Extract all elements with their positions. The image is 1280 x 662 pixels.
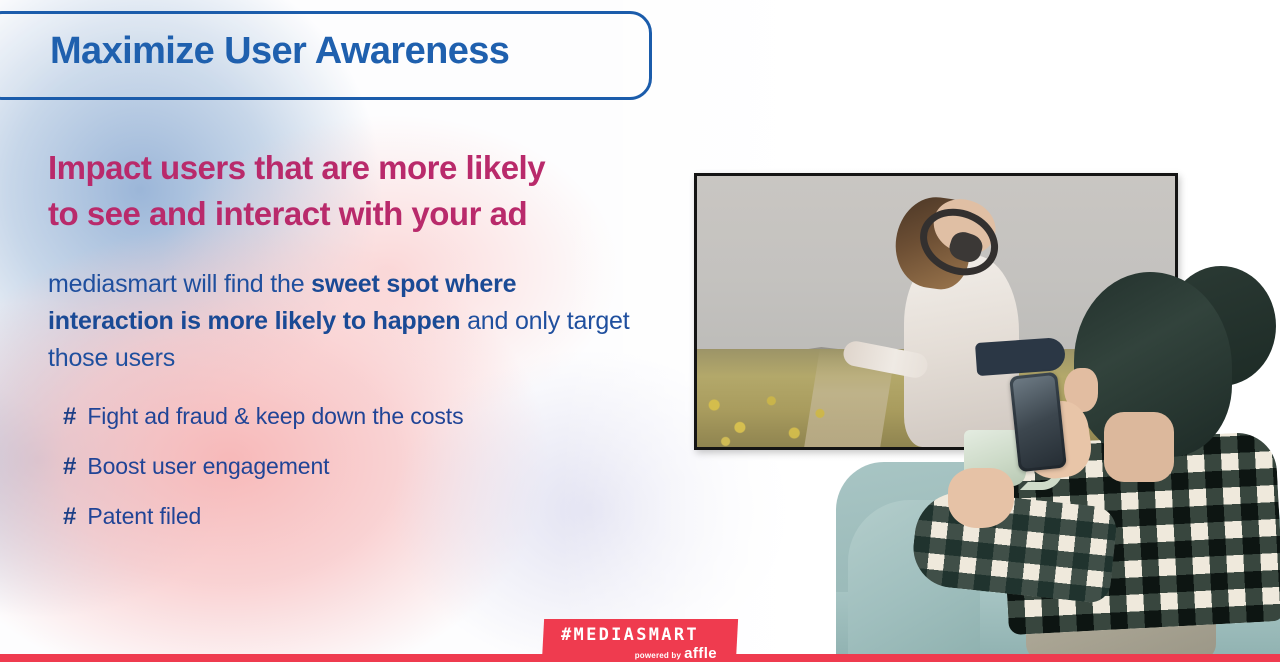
hash-icon: # (63, 405, 76, 429)
smartphone (1009, 372, 1067, 472)
affle-brand-text: affle (684, 645, 717, 662)
paragraph-part-1: mediasmart will find the (48, 270, 311, 298)
slide-canvas: Maximize User Awareness Impact users tha… (0, 0, 1280, 662)
headline: Impact users that are more likely to see… (48, 145, 648, 237)
bullet-label: Boost user engagement (87, 455, 329, 478)
logo-powered-by: powered byaffle (635, 645, 717, 662)
mediasmart-logo: #MEDIASMART powered byaffle (542, 619, 738, 662)
bullet-label: Fight ad fraud & keep down the costs (87, 405, 463, 428)
foreground-viewer-scene (836, 262, 1280, 662)
hash-icon: # (63, 505, 76, 529)
logo-wordmark: #MEDIASMART (561, 625, 699, 645)
list-item: # Fight ad fraud & keep down the costs (63, 405, 463, 455)
headline-line-2: to see and interact with your ad (48, 195, 527, 232)
body-paragraph: mediasmart will find the sweet spot wher… (48, 266, 640, 377)
tv-sunflowers (697, 377, 840, 447)
page-title: Maximize User Awareness (50, 30, 509, 73)
list-item: # Boost user engagement (63, 455, 463, 505)
phone-screen (1012, 375, 1063, 469)
headline-line-1: Impact users that are more likely (48, 149, 545, 186)
person-neck (1104, 412, 1174, 482)
list-item: # Patent filed (63, 505, 463, 555)
hand-holding-mug (948, 468, 1014, 528)
bullet-label: Patent filed (87, 505, 201, 528)
bullet-list: # Fight ad fraud & keep down the costs #… (63, 405, 463, 555)
hash-icon: # (63, 455, 76, 479)
powered-by-text: powered by (635, 651, 681, 660)
